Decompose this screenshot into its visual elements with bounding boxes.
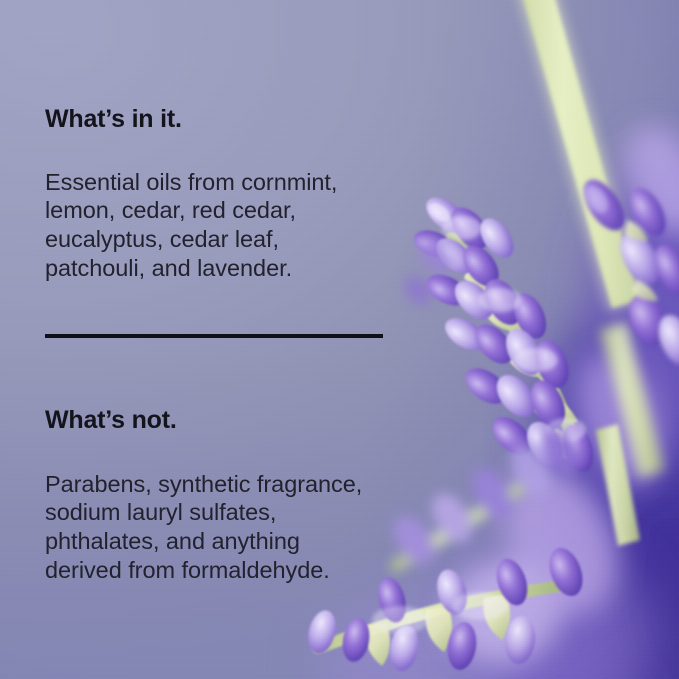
body-line: derived from formaldehyde. <box>45 556 362 585</box>
heading-whats-not: What’s not. <box>45 406 177 435</box>
body-line: phthalates, and anything <box>45 527 362 556</box>
body-whats-not: Parabens, synthetic fragrance, sodium la… <box>45 470 362 585</box>
body-whats-in-it: Essential oils from cornmint, lemon, ced… <box>45 168 337 283</box>
heading-whats-in-it: What’s in it. <box>45 105 182 134</box>
body-line: Essential oils from cornmint, <box>45 168 337 197</box>
body-line: eucalyptus, cedar leaf, <box>45 225 337 254</box>
body-line: patchouli, and lavender. <box>45 254 337 283</box>
body-line: sodium lauryl sulfates, <box>45 498 362 527</box>
section-divider <box>45 334 383 338</box>
ingredient-panel-image: What’s in it. Essential oils from cornmi… <box>0 0 679 679</box>
body-line: Parabens, synthetic fragrance, <box>45 470 362 499</box>
text-content: What’s in it. Essential oils from cornmi… <box>45 0 475 679</box>
body-line: lemon, cedar, red cedar, <box>45 196 337 225</box>
